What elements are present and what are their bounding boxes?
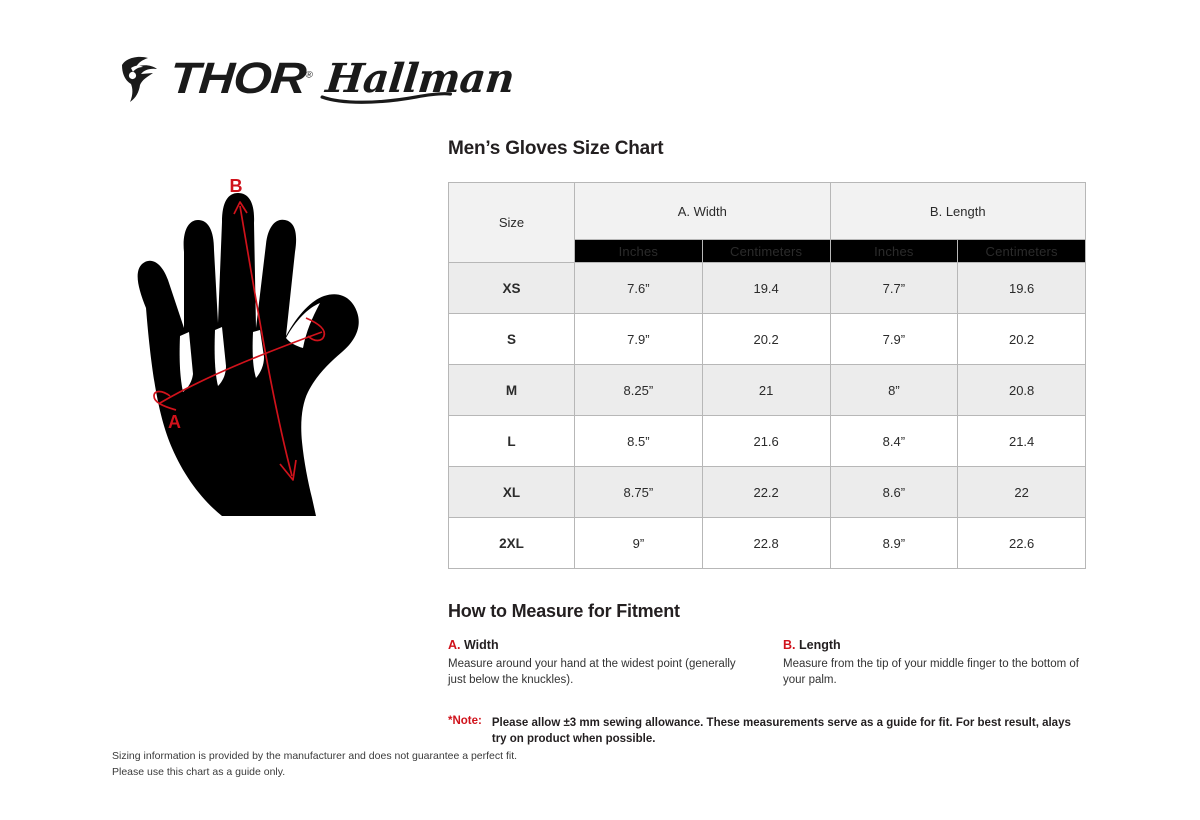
- cell-length-centimeters: 20.8: [958, 365, 1086, 416]
- cell-length-centimeters: 22.6: [958, 518, 1086, 569]
- column-header-length-centimeters: Centimeters: [958, 240, 1086, 263]
- hallman-logo: Hallman: [324, 59, 516, 99]
- cell-length-inches: 8”: [830, 365, 958, 416]
- table-row: M 8.25” 21 8” 20.8: [449, 365, 1086, 416]
- table-header-row-groups: Size A. Width B. Length: [449, 183, 1086, 240]
- cell-width-inches: 8.25”: [575, 365, 703, 416]
- how-to-measure-width-letter: A.: [448, 638, 461, 652]
- column-group-width: A. Width: [575, 183, 831, 240]
- how-to-measure-length-letter: B.: [783, 638, 796, 652]
- note-block: *Note: Please allow ±3 mm sewing allowan…: [448, 715, 1088, 748]
- column-group-length: B. Length: [830, 183, 1086, 240]
- cell-width-centimeters: 20.2: [702, 314, 830, 365]
- cell-length-inches: 7.7”: [830, 263, 958, 314]
- cell-width-centimeters: 19.4: [702, 263, 830, 314]
- cell-length-inches: 8.9”: [830, 518, 958, 569]
- size-chart-content: Men’s Gloves Size Chart Size A. Width B.…: [448, 138, 1088, 748]
- label-a: A: [168, 412, 181, 432]
- page-title: Men’s Gloves Size Chart: [448, 138, 1088, 160]
- cell-size: XS: [449, 263, 575, 314]
- how-to-measure-title: How to Measure for Fitment: [448, 601, 1088, 622]
- table-row: S 7.9” 20.2 7.9” 20.2: [449, 314, 1086, 365]
- cell-width-inches: 9”: [575, 518, 703, 569]
- table-row: XL 8.75” 22.2 8.6” 22: [449, 467, 1086, 518]
- table-row: 2XL 9” 22.8 8.9” 22.6: [449, 518, 1086, 569]
- thor-logo: THOR®: [112, 51, 296, 107]
- cell-length-centimeters: 20.2: [958, 314, 1086, 365]
- cell-length-inches: 7.9”: [830, 314, 958, 365]
- how-to-measure-length-name: Length: [799, 638, 841, 652]
- hand-silhouette-svg: A B: [110, 160, 430, 550]
- column-header-length-inches: Inches: [830, 240, 958, 263]
- cell-width-inches: 8.75”: [575, 467, 703, 518]
- cell-length-centimeters: 19.6: [958, 263, 1086, 314]
- how-to-measure-item-length: B. Length Measure from the tip of your m…: [783, 638, 1086, 689]
- how-to-measure-width-heading: A. Width: [448, 638, 751, 652]
- cell-size: S: [449, 314, 575, 365]
- cell-length-centimeters: 21.4: [958, 416, 1086, 467]
- how-to-measure-item-width: A. Width Measure around your hand at the…: [448, 638, 751, 689]
- brand-logo-bar: THOR® Hallman: [112, 48, 514, 110]
- cell-size: 2XL: [449, 518, 575, 569]
- thor-registered-mark: ®: [305, 69, 312, 79]
- how-to-measure-width-name: Width: [464, 638, 499, 652]
- size-chart-table: Size A. Width B. Length Inches Centimete…: [448, 182, 1086, 569]
- thor-wordmark: THOR®: [168, 57, 313, 101]
- table-header: Size A. Width B. Length Inches Centimete…: [449, 183, 1086, 263]
- table-row: L 8.5” 21.6 8.4” 21.4: [449, 416, 1086, 467]
- footer-line-1: Sizing information is provided by the ma…: [112, 748, 517, 764]
- cell-width-inches: 8.5”: [575, 416, 703, 467]
- note-text: Please allow ±3 mm sewing allowance. The…: [492, 715, 1077, 748]
- footer-line-2: Please use this chart as a guide only.: [112, 764, 517, 780]
- cell-length-inches: 8.4”: [830, 416, 958, 467]
- label-b: B: [230, 176, 243, 196]
- cell-length-inches: 8.6”: [830, 467, 958, 518]
- footer-disclaimer: Sizing information is provided by the ma…: [112, 748, 517, 781]
- cell-width-centimeters: 21: [702, 365, 830, 416]
- cell-length-centimeters: 22: [958, 467, 1086, 518]
- column-header-width-centimeters: Centimeters: [702, 240, 830, 263]
- cell-size: XL: [449, 467, 575, 518]
- hand-silhouette-shape: [138, 193, 359, 516]
- how-to-measure-length-description: Measure from the tip of your middle fing…: [783, 656, 1086, 689]
- cell-width-inches: 7.9”: [575, 314, 703, 365]
- cell-width-centimeters: 22.8: [702, 518, 830, 569]
- hallman-swash-icon: [320, 91, 453, 105]
- cell-width-inches: 7.6”: [575, 263, 703, 314]
- how-to-measure-length-heading: B. Length: [783, 638, 1086, 652]
- column-header-size: Size: [449, 183, 575, 263]
- table-body: XS 7.6” 19.4 7.7” 19.6 S 7.9” 20.2 7.9” …: [449, 263, 1086, 569]
- cell-size: M: [449, 365, 575, 416]
- thor-helmet-icon: [112, 51, 168, 107]
- how-to-measure-width-description: Measure around your hand at the widest p…: [448, 656, 751, 689]
- hand-measurement-diagram: A B: [110, 160, 430, 550]
- how-to-measure-columns: A. Width Measure around your hand at the…: [448, 638, 1088, 689]
- column-header-width-inches: Inches: [575, 240, 703, 263]
- thor-wordmark-text: THOR: [168, 54, 307, 103]
- note-label: *Note:: [448, 715, 482, 748]
- table-row: XS 7.6” 19.4 7.7” 19.6: [449, 263, 1086, 314]
- cell-width-centimeters: 22.2: [702, 467, 830, 518]
- cell-size: L: [449, 416, 575, 467]
- cell-width-centimeters: 21.6: [702, 416, 830, 467]
